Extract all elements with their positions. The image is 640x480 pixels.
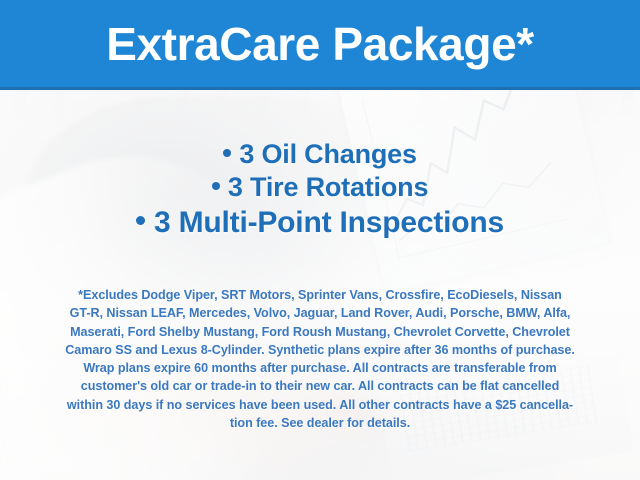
list-item: 3 Tire Rotations — [0, 171, 640, 204]
bullet-label: 3 Multi-Point Inspections — [154, 206, 504, 239]
header-banner: ExtraCare Package* — [0, 0, 640, 90]
disclaimer-line: Wrap plans expire 60 months after purcha… — [22, 359, 618, 377]
bullet-label: 3 Tire Rotations — [228, 172, 428, 202]
bullet-label: 3 Oil Changes — [239, 139, 416, 169]
disclaimer-line: within 30 days if no services have been … — [22, 396, 618, 414]
disclaimer-text: *Excludes Dodge Viper, SRT Motors, Sprin… — [22, 286, 618, 432]
page-title: ExtraCare Package* — [106, 21, 534, 67]
disclaimer-line: customer's old car or trade-in to their … — [22, 377, 618, 395]
disclaimer-line: *Excludes Dodge Viper, SRT Motors, Sprin… — [22, 286, 618, 304]
bullet-dot-icon — [223, 149, 231, 157]
offer-bullet-list: 3 Oil Changes 3 Tire Rotations 3 Multi-P… — [0, 138, 640, 241]
bullet-dot-icon — [212, 182, 220, 190]
disclaimer-line: Camaro SS and Lexus 8-Cylinder. Syntheti… — [22, 341, 618, 359]
list-item: 3 Oil Changes — [0, 138, 640, 171]
extracare-package-ad: ExtraCare Package* 3 Oil Changes 3 Tire … — [0, 0, 640, 480]
list-item: 3 Multi-Point Inspections — [0, 204, 640, 241]
disclaimer-line: Maserati, Ford Shelby Mustang, Ford Rous… — [22, 323, 618, 341]
disclaimer-line: tion fee. See dealer for details. — [22, 414, 618, 432]
bullet-dot-icon — [136, 216, 145, 225]
disclaimer-line: GT-R, Nissan LEAF, Mercedes, Volvo, Jagu… — [22, 304, 618, 322]
